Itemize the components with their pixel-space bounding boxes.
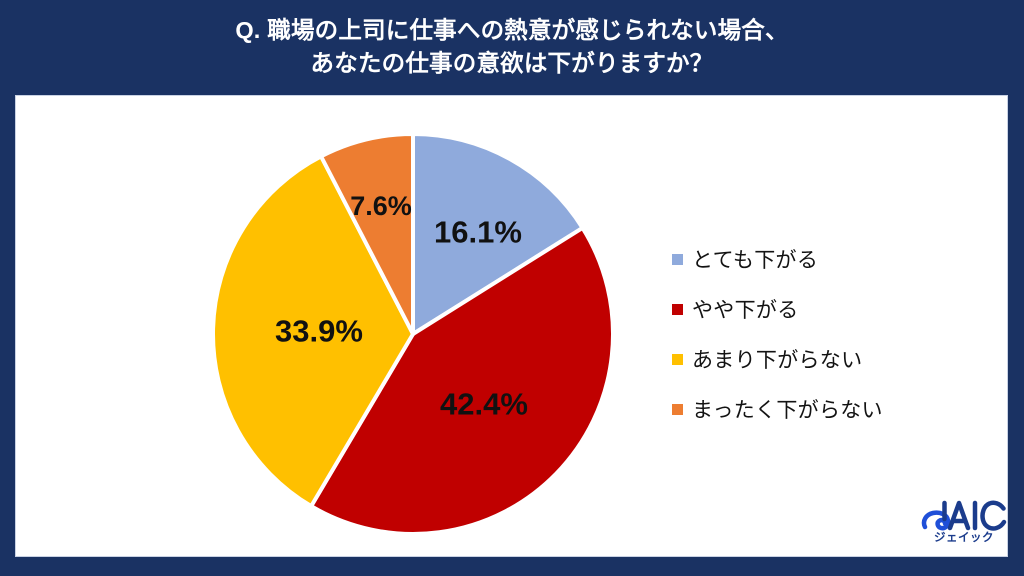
legend-color-swatch-icon bbox=[672, 304, 683, 315]
chart-legend: とても下がるやや下がるあまり下がらないまったく下がらない bbox=[672, 234, 972, 434]
legend-item-label: やや下がる bbox=[692, 294, 799, 324]
legend-color-swatch-icon bbox=[672, 254, 683, 265]
legend-item[interactable]: まったく下がらない bbox=[672, 384, 972, 434]
pie-slice-value-label: 16.1% bbox=[434, 215, 522, 250]
title-line-2: あなたの仕事の意欲は下がりますか？ bbox=[0, 47, 1024, 80]
jaic-logo: ジェイック bbox=[921, 499, 1007, 551]
legend-item-label: あまり下がらない bbox=[692, 344, 862, 374]
slide-canvas: Q. 職場の上司に仕事への熱意が感じられない場合、 あなたの仕事の意欲は下がりま… bbox=[0, 0, 1024, 576]
chart-card: 16.1%42.4%33.9%7.6% とても下がるやや下がるあまり下がらないま… bbox=[15, 95, 1008, 557]
pie-slice-value-label: 7.6% bbox=[350, 191, 412, 221]
title-line-1: Q. 職場の上司に仕事への熱意が感じられない場合、 bbox=[0, 14, 1024, 47]
pie-slice-group bbox=[213, 134, 613, 534]
page-title: Q. 職場の上司に仕事への熱意が感じられない場合、 あなたの仕事の意欲は下がりま… bbox=[0, 14, 1024, 80]
pie-chart: 16.1%42.4%33.9%7.6% bbox=[198, 119, 628, 549]
jaic-logo-subtext: ジェイック bbox=[921, 531, 1007, 545]
legend-item[interactable]: やや下がる bbox=[672, 284, 972, 334]
legend-color-swatch-icon bbox=[672, 354, 683, 365]
legend-item[interactable]: とても下がる bbox=[672, 234, 972, 284]
legend-item-label: とても下がる bbox=[692, 244, 818, 274]
pie-slice-value-label: 42.4% bbox=[440, 387, 528, 422]
pie-chart-svg: 16.1%42.4%33.9%7.6% bbox=[198, 119, 628, 549]
legend-color-swatch-icon bbox=[672, 404, 683, 415]
legend-item-label: まったく下がらない bbox=[692, 394, 883, 424]
jaic-wordmark-icon bbox=[921, 499, 1007, 532]
legend-item[interactable]: あまり下がらない bbox=[672, 334, 972, 384]
pie-slice-value-label: 33.9% bbox=[275, 314, 363, 349]
